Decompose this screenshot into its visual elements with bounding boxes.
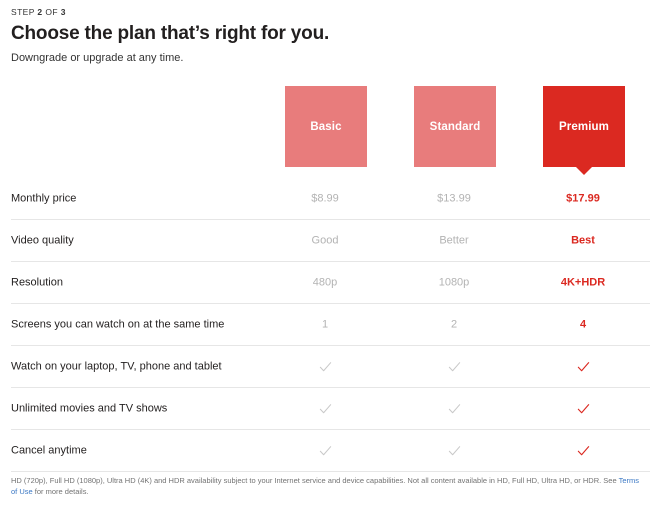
cell-premium: $17.99 <box>528 191 638 206</box>
cell-premium <box>528 401 638 416</box>
cell-premium: Best <box>528 233 638 248</box>
table-row: Screens you can watch on at the same tim… <box>11 304 650 346</box>
cell-standard: $13.99 <box>399 191 509 206</box>
cell-basic: 1 <box>270 317 380 332</box>
check-icon <box>447 359 462 374</box>
table-row: Cancel anytime <box>11 430 650 472</box>
step-indicator: STEP 2 OF 3 <box>11 6 651 18</box>
cell-basic <box>270 359 380 374</box>
check-icon <box>576 401 591 416</box>
cell-standard <box>399 359 509 374</box>
row-label: Watch on your laptop, TV, phone and tabl… <box>11 359 222 374</box>
cell-basic: 480p <box>270 275 380 290</box>
disclaimer-text-after: for more details. <box>33 487 89 496</box>
check-icon <box>447 443 462 458</box>
table-row: Unlimited movies and TV shows <box>11 388 650 430</box>
page-title: Choose the plan that’s right for you. <box>11 22 651 46</box>
cell-premium: 4 <box>528 317 638 332</box>
check-icon <box>576 359 591 374</box>
plan-box-basic-label: Basic <box>310 121 341 133</box>
cell-basic: $8.99 <box>270 191 380 206</box>
row-label: Resolution <box>11 275 63 290</box>
cell-standard: Better <box>399 233 509 248</box>
cell-premium: 4K+HDR <box>528 275 638 290</box>
check-icon <box>447 401 462 416</box>
table-row: Resolution 480p 1080p 4K+HDR <box>11 262 650 304</box>
table-row: Video quality Good Better Best <box>11 220 650 262</box>
row-label: Cancel anytime <box>11 443 87 458</box>
page-subtitle: Downgrade or upgrade at any time. <box>11 50 651 66</box>
cell-standard: 2 <box>399 317 509 332</box>
disclaimer-text-before: HD (720p), Full HD (1080p), Ultra HD (4K… <box>11 476 619 485</box>
cell-standard: 1080p <box>399 275 509 290</box>
row-label: Monthly price <box>11 191 76 206</box>
step-prefix: STEP <box>11 7 37 17</box>
cell-standard <box>399 401 509 416</box>
table-row: Watch on your laptop, TV, phone and tabl… <box>11 346 650 388</box>
cell-premium <box>528 359 638 374</box>
check-icon <box>318 443 333 458</box>
plan-box-standard-label: Standard <box>430 121 481 133</box>
cell-basic <box>270 443 380 458</box>
cell-premium <box>528 443 638 458</box>
row-label: Unlimited movies and TV shows <box>11 401 167 416</box>
step-middle: OF <box>43 7 61 17</box>
plan-header-boxes: Basic Standard Premium <box>0 86 660 178</box>
check-icon <box>318 401 333 416</box>
plan-box-premium-label: Premium <box>559 121 609 133</box>
page-header: STEP 2 OF 3 Choose the plan that’s right… <box>11 6 651 66</box>
step-total: 3 <box>61 7 66 17</box>
plan-box-premium[interactable]: Premium <box>543 86 625 167</box>
cell-standard <box>399 443 509 458</box>
plan-box-standard[interactable]: Standard <box>414 86 496 167</box>
legal-disclaimer: HD (720p), Full HD (1080p), Ultra HD (4K… <box>11 475 647 497</box>
check-icon <box>318 359 333 374</box>
plan-box-basic[interactable]: Basic <box>285 86 367 167</box>
cell-basic <box>270 401 380 416</box>
plan-selection-page: STEP 2 OF 3 Choose the plan that’s right… <box>0 0 660 506</box>
table-row: Monthly price $8.99 $13.99 $17.99 <box>11 178 650 220</box>
selected-plan-pointer-icon <box>576 167 592 175</box>
plan-comparison-table: Monthly price $8.99 $13.99 $17.99 Video … <box>11 178 650 472</box>
row-label: Screens you can watch on at the same tim… <box>11 317 224 332</box>
row-label: Video quality <box>11 233 74 248</box>
check-icon <box>576 443 591 458</box>
cell-basic: Good <box>270 233 380 248</box>
